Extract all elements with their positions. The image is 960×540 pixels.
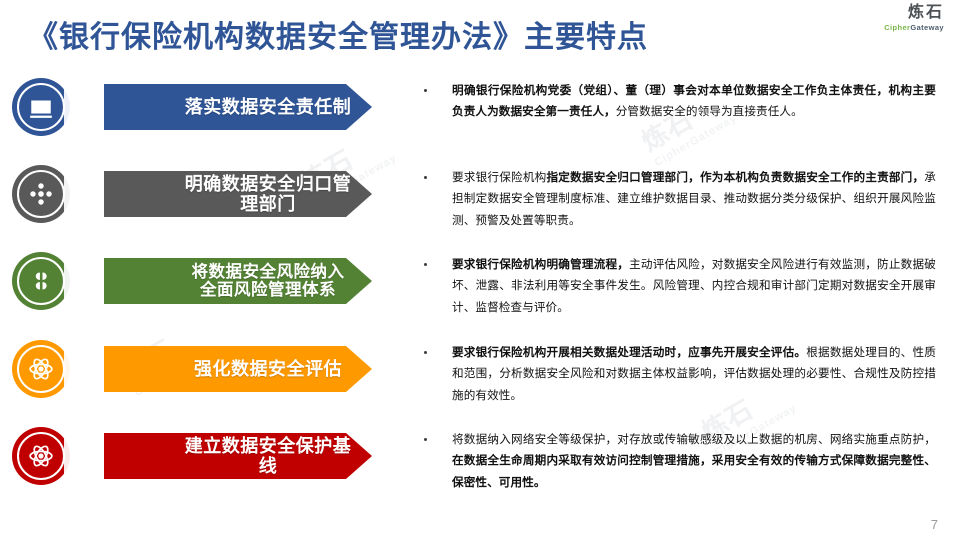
- description-block: 明确银行保险机构党委（党组）、董（理）事会对本单位数据安全工作负主体责任，机构主…: [424, 80, 936, 123]
- page-number: 7: [931, 517, 938, 532]
- list-item: 落实数据安全责任制 明确银行保险机构党委（党组）、董（理）事会对本单位数据安全工…: [0, 78, 960, 165]
- description-bold: 在数据全生命周期内采取有效访问控制管理措施，采用安全有效的传输方式保障数据完整性…: [452, 454, 936, 488]
- description-bold: 指定数据安全归口管理部门，作为本机构负责数据安全工作的主责部门，: [546, 171, 924, 184]
- chevron-right-icon: [64, 433, 90, 479]
- feature-list: 落实数据安全责任制 明确银行保险机构党委（党组）、董（理）事会对本单位数据安全工…: [0, 78, 960, 517]
- icon-glyph: [28, 443, 54, 469]
- description-text: 要求银行保险机构指定数据安全归口管理部门，作为本机构负责数据安全工作的主责部门，…: [452, 167, 936, 231]
- banner-label: 将数据安全风险纳入 全面风险管理体系: [192, 263, 345, 300]
- brand-logo-en-part2: Gateway: [910, 23, 944, 32]
- atom-icon: [12, 427, 70, 485]
- icon-glyph: [28, 268, 54, 294]
- description-text: 要求银行保险机构明确管理流程，主动评估风险，对数据安全风险进行有效监测，防止数据…: [452, 254, 936, 318]
- icon-glyph: [28, 181, 54, 207]
- banner-label: 强化数据安全评估: [194, 359, 342, 379]
- brand-logo-cn: 炼石: [884, 5, 944, 21]
- icon-glyph: [28, 94, 54, 120]
- banner-label: 建立数据安全保护基线: [180, 436, 356, 476]
- description-block: 要求银行保险机构明确管理流程，主动评估风险，对数据安全风险进行有效监测，防止数据…: [424, 254, 936, 318]
- description-normal-lead: 将数据纳入网络安全等级保护，对存放或传输敏感级及以上数据的机房、网络实施重点防护…: [452, 433, 936, 446]
- description-text: 要求银行保险机构开展相关数据处理活动时，应事先开展安全评估。根据数据处理目的、性…: [452, 342, 936, 406]
- banner-建立数据安全保护基线[interactable]: 建立数据安全保护基线: [104, 433, 372, 479]
- bullet-icon: [424, 263, 427, 266]
- atom-icon: [12, 340, 70, 398]
- four-petal-icon: [12, 252, 70, 310]
- banner-将数据安全风险纳入全面风险管理体系[interactable]: 将数据安全风险纳入 全面风险管理体系: [104, 258, 372, 304]
- chevron-right-icon: [64, 84, 90, 130]
- description-block: 要求银行保险机构开展相关数据处理活动时，应事先开展安全评估。根据数据处理目的、性…: [424, 342, 936, 406]
- banner-强化数据安全评估[interactable]: 强化数据安全评估: [104, 346, 372, 392]
- description-bold: 要求银行保险机构开展相关数据处理活动时，应事先开展安全评估。: [452, 346, 806, 359]
- description-block: 要求银行保险机构指定数据安全归口管理部门，作为本机构负责数据安全工作的主责部门，…: [424, 167, 936, 231]
- description-normal: 分管数据安全的领导为直接责任人。: [616, 105, 803, 118]
- brand-logo-en: CipherGateway: [884, 24, 944, 32]
- brand-logo: 炼石 CipherGateway: [884, 5, 944, 32]
- chevron-right-icon: [64, 258, 90, 304]
- description-bold: 要求银行保险机构明确管理流程，: [452, 258, 629, 271]
- list-item: 明确数据安全归口管理部门 要求银行保险机构指定数据安全归口管理部门，作为本机构负…: [0, 165, 960, 252]
- chevron-right-icon: [64, 346, 90, 392]
- chart-growth-icon: [12, 78, 70, 136]
- banner-明确数据安全归口管理部门[interactable]: 明确数据安全归口管理部门: [104, 171, 372, 217]
- list-item: 将数据安全风险纳入 全面风险管理体系 要求银行保险机构明确管理流程，主动评估风险…: [0, 252, 960, 340]
- list-item: 强化数据安全评估 要求银行保险机构开展相关数据处理活动时，应事先开展安全评估。根…: [0, 340, 960, 427]
- banner-label: 落实数据安全责任制: [185, 97, 352, 117]
- banner-落实数据安全责任制[interactable]: 落实数据安全责任制: [104, 84, 372, 130]
- brand-logo-en-part1: Cipher: [884, 23, 910, 32]
- banner-label: 明确数据安全归口管理部门: [180, 174, 356, 214]
- slide: 炼石 CipherGateway 炼石 CipherGateway 炼石 Cip…: [0, 0, 960, 540]
- description-text: 明确银行保险机构党委（党组）、董（理）事会对本单位数据安全工作负主体责任，机构主…: [452, 80, 936, 123]
- icon-glyph: [28, 356, 54, 382]
- bullet-icon: [424, 438, 427, 441]
- bullet-icon: [424, 351, 427, 354]
- chevron-right-icon: [64, 171, 90, 217]
- page-title: 《银行保险机构数据安全管理办法》主要特点: [28, 12, 648, 56]
- bullet-icon: [424, 89, 427, 92]
- description-normal-lead: 要求银行保险机构: [452, 171, 546, 184]
- list-item: 建立数据安全保护基线 将数据纳入网络安全等级保护，对存放或传输敏感级及以上数据的…: [0, 427, 960, 517]
- description-block: 将数据纳入网络安全等级保护，对存放或传输敏感级及以上数据的机房、网络实施重点防护…: [424, 429, 936, 493]
- bullet-icon: [424, 176, 427, 179]
- node-cluster-icon: [12, 165, 70, 223]
- description-text: 将数据纳入网络安全等级保护，对存放或传输敏感级及以上数据的机房、网络实施重点防护…: [452, 429, 936, 493]
